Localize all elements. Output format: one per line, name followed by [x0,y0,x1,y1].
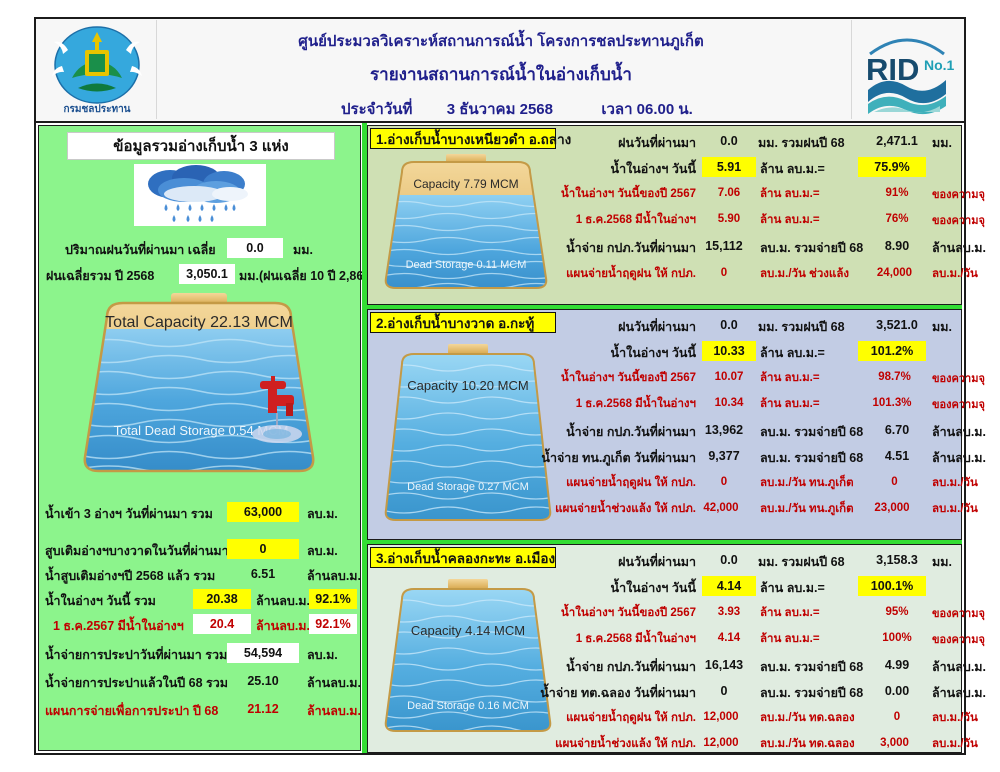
reservoir-2-row-plan-drought-label: แผนจ่ายน้ำช่วงแล้ง ให้ กปภ. [555,500,696,518]
reservoir-2-capacity-text: Capacity 10.20 MCM [407,378,528,393]
reservoir-3-row-storage: น้ำในอ่างฯ วันนี้ 4.14 ล้าน ลบ.ม.= 100.1… [558,574,958,598]
reservoir-3-row-supply-chalong-m1: ลบ.ม. รวมจ่ายปี 68 [760,683,863,703]
reservoir-1-row-dec-start-v1: 5.90 [702,209,756,229]
reservoir-2-row-plan-drought-v1: 42,000 [686,498,756,518]
reservoir-2-row-rain-label: ฝนวันที่ผ่านมา [618,317,696,337]
reservoir-3-row-supply-pwa-label: น้ำจ่าย กปภ.วันที่ผ่านมา [566,657,696,677]
reservoir-3-row-plan-drought-m1: ลบ.ม./วัน ทด.ฉลอง [760,735,855,753]
reservoir-3-row-plan-drought-v1: 12,000 [686,733,756,753]
reservoir-1-row-supply-pwa-v1: 15,112 [692,236,756,256]
reservoir-2-row-rain-v2: 3,521.0 [868,315,926,335]
reservoir-2-row-rain-m1: มม. รวมฝนปี 68 [758,317,845,337]
rain-today-value: 0.0 [227,238,283,258]
reservoir-2-tank-graphic: Capacity 10.20 MCM Dead Storage 0.27 MCM [382,338,554,534]
reservoir-1-capacity-text: Capacity 7.79 MCM [413,177,518,191]
reservoir-3-row-supply-pwa-m2: ล้านลบ.ม. [932,657,986,677]
reservoir-1-row-dec-start-label: 1 ธ.ค.2568 มีน้ำในอ่างฯ [576,211,696,229]
summary-panel: ข้อมูลรวมอ่างเก็บน้ำ 3 แห่ง [38,125,361,751]
summary-row-supply-year: น้ำจ่ายการประปาแล้วในปี 68 รวม 25.10 ล้า… [45,670,356,693]
reservoir-1-row-dec-start-v2: 76% [868,209,926,229]
reservoir-1-tank-graphic: Capacity 7.79 MCM Dead Storage 0.11 MCM [382,152,550,300]
reservoir-2-row-supply-city-v2: 4.51 [868,446,926,466]
reservoir-2-row-supply-city-m2: ล้านลบ.ม. [932,448,986,468]
reservoir-3-title: 3.อ่างเก็บน้ำคลองกะทะ อ.เมือง [370,547,556,568]
rain-today-unit: มม. [293,240,313,260]
reservoir-3-row-supply-chalong-v1: 0 [692,681,756,701]
reservoir-3-row-storage-m1: ล้าน ลบ.ม.= [760,578,825,598]
date-value: 3 ธันวาคม 2568 [447,97,553,121]
reservoir-3-row-supply-chalong-m2: ล้านลบ.ม. [932,683,986,703]
reservoir-2-row-storage-m1: ล้าน ลบ.ม.= [760,343,825,363]
reservoir-2-row-supply-city-label: น้ำจ่าย ทน.ภูเก็ต วันที่ผ่านมา [541,448,696,468]
reservoir-1-row-supply-pwa-label: น้ำจ่าย กปภ.วันที่ผ่านมา [566,238,696,258]
reservoir-1-row-dec-start-m2: ของความจุ [932,211,985,229]
reservoir-2-row-plan-drought-m1: ลบ.ม./วัน ทน.ภูเก็ต [760,500,854,518]
summary-row-pumped-today-value: 0 [227,539,299,559]
reservoir-2-row-plan-drought-m2: ลบ.ม./วัน [932,500,978,518]
summary-row-pumped-today: สูบเติมอ่างฯบางวาดในวันที่ผ่านมา 0 ลบ.ม. [45,538,356,561]
reservoir-3-row-supply-pwa: น้ำจ่าย กปภ.วันที่ผ่านมา 16,143 ลบ.ม. รว… [558,653,958,677]
reservoir-2-row-supply-pwa-m1: ลบ.ม. รวมจ่ายปี 68 [760,422,863,442]
reservoir-2-row-storage: น้ำในอ่างฯ วันนี้ 10.33 ล้าน ลบ.ม.= 101.… [558,339,958,363]
reservoir-3-row-plan-rainy-v2: 0 [868,707,926,727]
summary-row-storage-prev-unit: ล้านลบ.ม. [256,616,310,636]
reservoir-3-row-plan-rainy-m2: ลบ.ม./วัน [932,709,978,727]
reservoir-panel-3: 3.อ่างเก็บน้ำคลองกะทะ อ.เมือง [367,544,962,753]
reservoir-1-row-dec-start: 1 ธ.ค.2568 มีน้ำในอ่างฯ 5.90 ล้าน ลบ.ม.=… [558,207,958,231]
reservoir-3-row-plan-drought-m2: ลบ.ม./วัน [932,735,978,753]
reservoir-2-row-supply-pwa-v1: 13,962 [692,420,756,440]
reservoir-2-row-prev-year-v2: 98.7% [863,367,926,387]
summary-row-supply-plan: แผนการจ่ายเพื่อการประปา ปี 68 21.12 ล้าน… [45,698,356,721]
summary-row-supply-year-label: น้ำจ่ายการประปาแล้วในปี 68 รวม [45,673,228,693]
reservoir-3-row-dec-start-m2: ของความจุ [932,630,985,648]
reservoir-1-row-storage-v1: 5.91 [702,157,756,177]
reservoir-2-row-prev-year-m1: ล้าน ลบ.ม.= [760,369,820,387]
reservoir-1-row-prev-year-v2: 91% [868,183,926,203]
rain-today-label: ปริมาณฝนวันที่ผ่านมา เฉลี่ย [65,240,216,260]
reservoir-1-row-rain-v2: 2,471.1 [868,131,926,151]
reservoir-1-row-rain: ฝนวันที่ผ่านมา 0.0 มม. รวมฝนปี 68 2,471.… [558,129,958,153]
reservoir-2-row-plan-drought: แผนจ่ายน้ำช่วงแล้ง ให้ กปภ. 42,000 ลบ.ม.… [558,496,958,520]
reservoir-3-row-prev-year-m2: ของความจุ [932,604,985,622]
rain-year-value: 3,050.1 [179,264,235,284]
header-org-line: ศูนย์ประมวลวิเคราะห์สถานการณ์น้ำ โครงการ… [166,29,836,53]
reservoir-2-row-prev-year-v1: 10.07 [702,367,756,387]
reservoir-2-row-prev-year-m2: ของความจุ [932,369,985,387]
reservoir-3-row-dec-start-label: 1 ธ.ค.2568 มีน้ำในอ่างฯ [576,630,696,648]
summary-row-supply-year-unit: ล้านลบ.ม. [307,673,361,693]
summary-row-storage-prev-label: 1 ธ.ค.2567 มีน้ำในอ่างฯ [53,616,184,636]
reservoir-3-row-plan-rainy-v1: 12,000 [686,707,756,727]
summary-row-storage-prev-value: 20.4 [193,614,251,634]
reservoir-3-row-plan-drought: แผนจ่ายน้ำช่วงแล้ง ให้ กปภ. 12,000 ลบ.ม.… [558,731,958,755]
reservoir-3-row-rain-m2: มม. [932,552,952,572]
reservoir-3-capacity-text: Capacity 4.14 MCM [411,623,525,638]
reservoir-1-row-rain-v1: 0.0 [706,131,752,151]
reservoir-2-row-supply-city-v1: 9,377 [692,446,756,466]
reservoir-2-title: 2.อ่างเก็บน้ำบางวาด อ.กะทู้ [370,312,556,333]
reservoir-3-row-dec-start-m1: ล้าน ลบ.ม.= [760,630,820,648]
reservoir-2-row-dec-start: 1 ธ.ค.2568 มีน้ำในอ่างฯ 10.34 ล้าน ลบ.ม.… [558,391,958,415]
reservoir-1-row-storage-m1: ล้าน ลบ.ม.= [760,159,825,179]
summary-row-supply-plan-unit: ล้านลบ.ม. [307,701,361,721]
reservoir-2-row-storage-label: น้ำในอ่างฯ วันนี้ [611,343,696,363]
report-frame: กรมชลประทาน ศูนย์ประมวลวิเคราะห์สถานการณ… [34,17,966,755]
report-header: กรมชลประทาน ศูนย์ประมวลวิเคราะห์สถานการณ… [36,19,964,123]
reservoir-2-row-prev-year-label: น้ำในอ่างฯ วันนี้ของปี 2567 [561,369,696,387]
reservoir-panel-2: 2.อ่างเก็บน้ำบางวาด อ.กะทู้ [367,309,962,540]
reservoir-1-row-supply-pwa-v2: 8.90 [868,236,926,256]
reservoir-2-row-plan-drought-v2: 23,000 [858,498,926,518]
rain-year-label: ฝนเฉลี่ยรวม ปี 2568 [46,266,154,286]
reservoir-2-row-rain-m2: มม. [932,317,952,337]
summary-row-storage-prev-percent: 92.1% [309,614,357,634]
reservoir-3-row-dec-start-v1: 4.14 [702,628,756,648]
summary-row-inflow-unit: ลบ.ม. [307,504,338,524]
reservoir-3-tank-graphic: Capacity 4.14 MCM Dead Storage 0.16 MCM [382,573,554,745]
report-page: กรมชลประทาน ศูนย์ประมวลวิเคราะห์สถานการณ… [0,0,1000,772]
reservoir-1-row-prev-year-label: น้ำในอ่างฯ วันนี้ของปี 2567 [561,185,696,203]
reservoir-1-row-plan-rainy-m1: ลบ.ม./วัน ช่วงแล้ง [760,265,849,283]
reservoir-2-row-plan-rainy-m1: ลบ.ม./วัน ทน.ภูเก็ต [760,474,854,492]
summary-row-storage-today-unit: ล้านลบ.ม. [256,591,310,611]
reservoir-2-row-supply-pwa-m2: ล้านลบ.ม. [932,422,986,442]
report-body: ข้อมูลรวมอ่างเก็บน้ำ 3 แห่ง [36,123,964,755]
reservoir-3-row-storage-v2: 100.1% [858,576,926,596]
reservoir-1-row-dec-start-m1: ล้าน ลบ.ม.= [760,211,820,229]
reservoir-1-row-rain-label: ฝนวันที่ผ่านมา [618,133,696,153]
reservoir-2-row-supply-city-m1: ลบ.ม. รวมจ่ายปี 68 [760,448,863,468]
reservoir-1-row-plan-rainy-label: แผนจ่ายน้ำฤดูฝน ให้ กปภ. [566,265,696,283]
reservoir-3-row-dec-start: 1 ธ.ค.2568 มีน้ำในอ่างฯ 4.14 ล้าน ลบ.ม.=… [558,626,958,650]
reservoir-1-row-plan-rainy-v1: 0 [692,263,756,283]
reservoir-2-dead-storage-text: Dead Storage 0.27 MCM [407,481,529,493]
reservoir-3-row-plan-rainy-m1: ลบ.ม./วัน ทด.ฉลอง [760,709,855,727]
reservoir-3-row-storage-v1: 4.14 [702,576,756,596]
summary-row-pumped-year-label: น้ำสูบเติมอ่างฯปี 2568 แล้ว รวม [45,566,215,586]
reservoir-1-row-plan-rainy-m2: ลบ.ม./วัน [932,265,978,283]
reservoir-3-row-rain-m1: มม. รวมฝนปี 68 [758,552,845,572]
summary-title: ข้อมูลรวมอ่างเก็บน้ำ 3 แห่ง [67,132,335,160]
reservoir-2-row-dec-start-m2: ของความจุ [932,395,985,413]
reservoir-1-row-supply-pwa: น้ำจ่าย กปภ.วันที่ผ่านมา 15,112 ลบ.ม. รว… [558,234,958,258]
summary-row-inflow-value: 63,000 [227,502,299,522]
reservoir-2-row-plan-rainy-v2: 0 [863,472,926,492]
reservoir-3-row-supply-pwa-v2: 4.99 [868,655,926,675]
reservoir-2-row-dec-start-v1: 10.34 [702,393,756,413]
reservoir-3-row-rain-label: ฝนวันที่ผ่านมา [618,552,696,572]
reservoir-2-row-dec-start-label: 1 ธ.ค.2568 มีน้ำในอ่างฯ [576,395,696,413]
reservoir-3-row-prev-year-v2: 95% [868,602,926,622]
summary-row-storage-today-label: น้ำในอ่างฯ วันนี้ รวม [45,591,156,611]
summary-row-supply-plan-value: 21.12 [227,699,299,719]
reservoir-3-row-plan-rainy-label: แผนจ่ายน้ำฤดูฝน ให้ กปภ. [566,709,696,727]
reservoir-2-row-plan-rainy: แผนจ่ายน้ำฤดูฝน ให้ กปภ. 0 ลบ.ม./วัน ทน.… [558,470,958,494]
reservoir-2-row-rain: ฝนวันที่ผ่านมา 0.0 มม. รวมฝนปี 68 3,521.… [558,313,958,337]
reservoir-2-row-supply-pwa: น้ำจ่าย กปภ.วันที่ผ่านมา 13,962 ลบ.ม. รว… [558,418,958,442]
summary-row-storage-prev: 1 ธ.ค.2567 มีน้ำในอ่างฯ 20.4 ล้านลบ.ม. 9… [45,613,356,636]
summary-row-pumped-today-unit: ลบ.ม. [307,541,338,561]
royal-irrigation-department-seal-icon: กรมชลประทาน [38,20,157,119]
reservoir-2-row-supply-pwa-v2: 6.70 [868,420,926,440]
reservoir-3-row-storage-label: น้ำในอ่างฯ วันนี้ [611,578,696,598]
reservoir-1-row-plan-rainy-v2: 24,000 [863,263,926,283]
reservoir-3-dead-storage-text: Dead Storage 0.16 MCM [407,700,529,712]
reservoir-2-row-plan-rainy-m2: ลบ.ม./วัน [932,474,978,492]
reservoir-panel-1: 1.อ่างเก็บน้ำบางเหนียวดำ อ.ถลาง [367,125,962,305]
summary-row-storage-today-percent: 92.1% [309,589,357,609]
reservoir-3-row-dec-start-v2: 100% [868,628,926,648]
reservoir-2-row-plan-rainy-v1: 0 [692,472,756,492]
reservoir-2-row-dec-start-v2: 101.3% [858,393,926,413]
summary-row-pumped-today-label: สูบเติมอ่างฯบางวาดในวันที่ผ่านมา [45,541,229,561]
reservoir-3-row-rain-v1: 0.0 [706,550,752,570]
summary-row-storage-today-value: 20.38 [193,589,251,609]
reservoir-3-row-supply-chalong-label: น้ำจ่าย ทต.ฉลอง วันที่ผ่านมา [540,683,696,703]
summary-capacity-text: Total Capacity 22.13 MCM [105,314,293,331]
header-date-row: ประจำวันที่ 3 ธันวาคม 2568 เวลา 06.00 น. [166,97,836,121]
rain-year-row: ฝนเฉลี่ยรวม ปี 2568 3,050.1 มม.(ฝนเฉลี่ย… [45,263,356,286]
reservoir-3-row-supply-pwa-v1: 16,143 [692,655,756,675]
reservoir-1-row-prev-year-m1: ล้าน ลบ.ม.= [760,185,820,203]
reservoir-1-row-prev-year-m2: ของความจุ [932,185,985,203]
reservoir-3-row-supply-chalong-v2: 0.00 [868,681,926,701]
summary-row-pumped-year-unit: ล้านลบ.ม. [307,566,361,586]
reservoir-1-row-storage-v2: 75.9% [858,157,926,177]
rid-logo-sup: No.1 [924,57,955,73]
summary-row-inflow-label: น้ำเข้า 3 อ่างฯ วันที่ผ่านมา รวม [45,504,213,524]
reservoir-2-row-plan-rainy-label: แผนจ่ายน้ำฤดูฝน ให้ กปภ. [566,474,696,492]
reservoir-1-row-storage: น้ำในอ่างฯ วันนี้ 5.91 ล้าน ลบ.ม.= 75.9% [558,155,958,179]
reservoir-1-row-supply-pwa-m2: ล้านลบ.ม. [932,238,986,258]
reservoir-2-row-storage-v1: 10.33 [702,341,756,361]
reservoir-panels: 1.อ่างเก็บน้ำบางเหนียวดำ อ.ถลาง [367,123,962,755]
summary-row-pumped-year-value: 6.51 [227,564,299,584]
summary-row-supply-today: น้ำจ่ายการประปาวันที่ผ่านมา รวม 54,594 ล… [45,642,356,665]
reservoir-1-dead-storage-text: Dead Storage 0.11 MCM [406,259,527,271]
reservoir-3-row-plan-rainy: แผนจ่ายน้ำฤดูฝน ให้ กปภ. 12,000 ลบ.ม./วั… [558,705,958,729]
reservoir-3-row-plan-drought-v2: 3,000 [863,733,926,753]
rid-no1-logo-icon: RID No.1 [851,20,962,119]
summary-row-storage-today: น้ำในอ่างฯ วันนี้ รวม 20.38 ล้านลบ.ม. 92… [45,588,356,611]
reservoir-2-row-rain-v1: 0.0 [706,315,752,335]
reservoir-1-title: 1.อ่างเก็บน้ำบางเหนียวดำ อ.ถลาง [370,128,556,149]
summary-row-inflow: น้ำเข้า 3 อ่างฯ วันที่ผ่านมา รวม 63,000 … [45,501,356,524]
summary-row-supply-year-value: 25.10 [227,671,299,691]
reservoir-1-row-storage-label: น้ำในอ่างฯ วันนี้ [611,159,696,179]
reservoir-1-row-rain-m1: มม. รวมฝนปี 68 [758,133,845,153]
reservoir-2-row-dec-start-m1: ล้าน ลบ.ม.= [760,395,820,413]
rain-cloud-icon [134,164,266,226]
reservoir-3-row-supply-chalong: น้ำจ่าย ทต.ฉลอง วันที่ผ่านมา 0 ลบ.ม. รวม… [558,679,958,703]
reservoir-3-row-supply-pwa-m1: ลบ.ม. รวมจ่ายปี 68 [760,657,863,677]
summary-row-supply-today-label: น้ำจ่ายการประปาวันที่ผ่านมา รวม [45,645,227,665]
reservoir-1-row-prev-year-v1: 7.06 [702,183,756,203]
reservoir-2-row-prev-year: น้ำในอ่างฯ วันนี้ของปี 2567 10.07 ล้าน ล… [558,365,958,389]
reservoir-3-row-prev-year-label: น้ำในอ่างฯ วันนี้ของปี 2567 [561,604,696,622]
rain-today-row: ปริมาณฝนวันที่ผ่านมา เฉลี่ย 0.0 มม. [45,237,356,260]
reservoir-3-row-prev-year-v1: 3.93 [702,602,756,622]
reservoir-3-row-plan-drought-label: แผนจ่ายน้ำช่วงแล้ง ให้ กปภ. [555,735,696,753]
summary-row-pumped-year: น้ำสูบเติมอ่างฯปี 2568 แล้ว รวม 6.51 ล้า… [45,563,356,586]
reservoir-1-row-plan-rainy: แผนจ่ายน้ำฤดูฝน ให้ กปภ. 0 ลบ.ม./วัน ช่ว… [558,261,958,285]
date-label: ประจำวันที่ [341,97,412,121]
summary-row-supply-today-value: 54,594 [227,643,299,663]
reservoir-2-row-storage-v2: 101.2% [858,341,926,361]
reservoir-2-row-supply-pwa-label: น้ำจ่าย กปภ.วันที่ผ่านมา [566,422,696,442]
summary-water-tank-graphic: Total Capacity 22.13 MCM Total Dead Stor… [79,291,319,487]
reservoir-2-row-supply-city: น้ำจ่าย ทน.ภูเก็ต วันที่ผ่านมา 9,377 ลบ.… [558,444,958,468]
reservoir-1-row-supply-pwa-m1: ลบ.ม. รวมจ่ายปี 68 [760,238,863,258]
reservoir-3-row-rain-v2: 3,158.3 [868,550,926,570]
summary-row-supply-plan-label: แผนการจ่ายเพื่อการประปา ปี 68 [45,701,218,721]
reservoir-1-row-rain-m2: มม. [932,133,952,153]
reservoir-3-row-rain: ฝนวันที่ผ่านมา 0.0 มม. รวมฝนปี 68 3,158.… [558,548,958,572]
time-value: เวลา 06.00 น. [601,97,692,121]
summary-row-supply-today-unit: ลบ.ม. [307,645,338,665]
seal-caption: กรมชลประทาน [63,103,130,115]
reservoir-1-row-prev-year: น้ำในอ่างฯ วันนี้ของปี 2567 7.06 ล้าน ลบ… [558,181,958,205]
faucet-icon [246,375,308,445]
reservoir-3-row-prev-year: น้ำในอ่างฯ วันนี้ของปี 2567 3.93 ล้าน ลบ… [558,600,958,624]
reservoir-3-row-prev-year-m1: ล้าน ลบ.ม.= [760,604,820,622]
page-title: รายงานสถานการณ์น้ำในอ่างเก็บน้ำ [166,61,836,88]
